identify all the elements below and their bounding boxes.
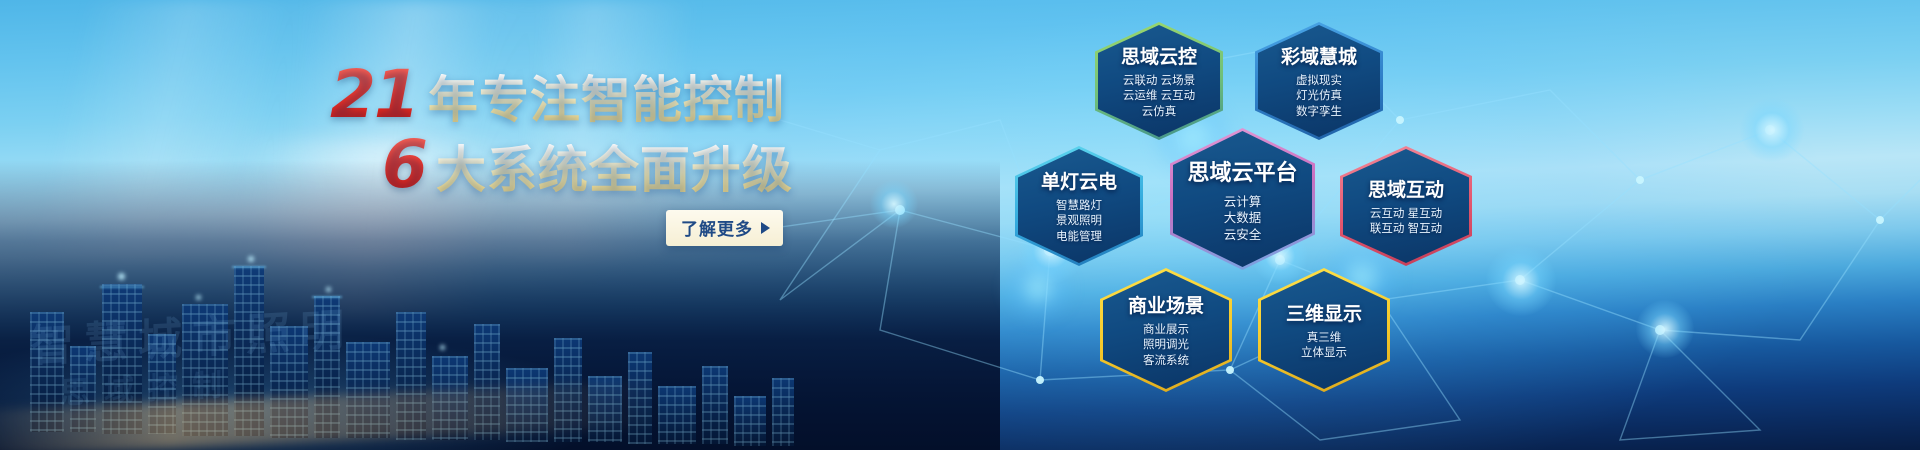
hex-sub: 云仿真 <box>1123 105 1195 120</box>
hex-title: 三维显示 <box>1286 299 1362 326</box>
hex-sub: 云安全 <box>1224 227 1262 244</box>
hex-title: 思域云平台 <box>1187 155 1297 187</box>
hex-title: 单灯云电 <box>1041 167 1117 194</box>
hex-sub: 云运维 云互动 <box>1123 89 1195 104</box>
hex-sub: 云互动 星互动 <box>1370 207 1442 222</box>
hex-sub: 真三维 <box>1301 331 1347 346</box>
hex-sub: 数字孪生 <box>1296 105 1342 120</box>
hex-subtitles: 云互动 星互动 联互动 智互动 <box>1370 207 1442 238</box>
promo-banner: 智慧城市照明 思域控制 <box>0 0 1920 450</box>
hex-title: 思域互动 <box>1368 175 1444 202</box>
hex-sub: 客流系统 <box>1143 354 1189 369</box>
hex-sub: 云计算 <box>1224 194 1262 211</box>
hex-subtitles: 智慧路灯 景观照明 电能管理 <box>1056 199 1102 245</box>
hex-subtitles: 云联动 云场景 云运维 云互动 云仿真 <box>1123 74 1195 120</box>
hex-sub: 照明调光 <box>1143 338 1189 353</box>
hex-title: 彩域慧城 <box>1281 42 1357 69</box>
hex-sub: 虚拟现实 <box>1296 74 1342 89</box>
hex-caiyu-huicheng[interactable]: 彩域慧城 虚拟现实 灯光仿真 数字孪生 <box>1255 22 1383 140</box>
hex-sub: 景观照明 <box>1056 214 1102 229</box>
hex-subtitles: 虚拟现实 灯光仿真 数字孪生 <box>1296 74 1342 120</box>
hex-sub: 灯光仿真 <box>1296 89 1342 104</box>
hex-sub: 云联动 云场景 <box>1123 74 1195 89</box>
hex-siyu-hudong[interactable]: 思域互动 云互动 星互动 联互动 智互动 <box>1340 146 1472 266</box>
hex-siyu-yunkong[interactable]: 思域云控 云联动 云场景 云运维 云互动 云仿真 <box>1095 22 1223 140</box>
hex-siyu-yunpingtai[interactable]: 思域云平台 云计算 大数据 云安全 <box>1170 128 1315 270</box>
hex-title: 思域云控 <box>1121 42 1197 69</box>
hexagon-cluster: 思域云控 云联动 云场景 云运维 云互动 云仿真 彩域慧城 虚拟现实 灯光仿真 … <box>0 0 1920 450</box>
hex-subtitles: 云计算 大数据 云安全 <box>1224 194 1262 244</box>
hex-sanwei-xianshi[interactable]: 三维显示 真三维 立体显示 <box>1258 268 1390 392</box>
hex-subtitles: 商业展示 照明调光 客流系统 <box>1143 323 1189 369</box>
hex-sub: 立体显示 <box>1301 346 1347 361</box>
hex-subtitles: 真三维 立体显示 <box>1301 331 1347 362</box>
hex-dandeng-yundian[interactable]: 单灯云电 智慧路灯 景观照明 电能管理 <box>1015 146 1143 266</box>
hex-shangye-changjing[interactable]: 商业场景 商业展示 照明调光 客流系统 <box>1100 268 1232 392</box>
hex-sub: 商业展示 <box>1143 323 1189 338</box>
hex-sub: 电能管理 <box>1056 230 1102 245</box>
hex-sub: 大数据 <box>1224 210 1262 227</box>
hex-sub: 智慧路灯 <box>1056 199 1102 214</box>
hex-sub: 联互动 智互动 <box>1370 222 1442 237</box>
hex-title: 商业场景 <box>1128 291 1204 318</box>
